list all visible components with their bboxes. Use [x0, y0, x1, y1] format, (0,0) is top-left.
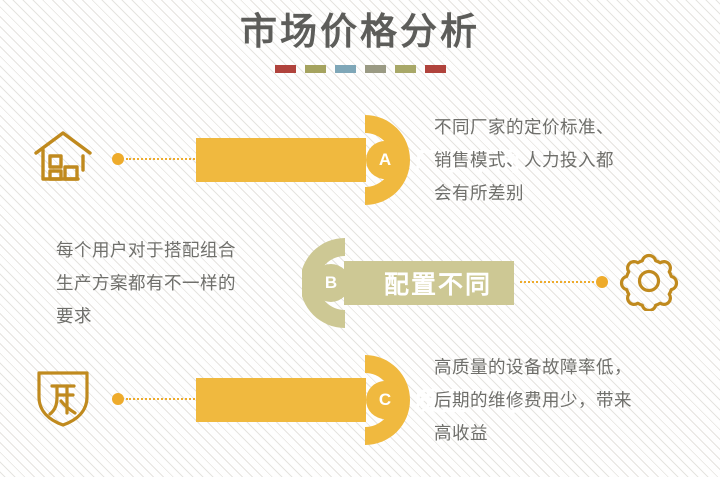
reason-row-b: 每个用户对于搭配组合 生产方案都有不一样的 要求 配置不同 B	[0, 228, 720, 338]
badge-a[interactable]: 厂家不同 A	[196, 105, 412, 215]
description-c-line-1: 高质量的设备故障率低，	[434, 351, 690, 384]
description-c-line-3: 高收益	[434, 417, 690, 450]
badge-c-letter: C	[366, 345, 404, 455]
badge-b-label: 配置不同	[384, 228, 492, 338]
badge-a-letter: A	[366, 105, 404, 215]
connector-dot-b	[596, 276, 608, 288]
connector-dot-c	[112, 393, 124, 405]
divider-dash-2	[305, 65, 326, 73]
page-title: 市场价格分析	[0, 8, 720, 56]
connector-c	[112, 393, 208, 405]
description-a-line-2: 销售模式、人力投入都	[434, 144, 686, 177]
infographic-page: 市场价格分析	[0, 0, 720, 477]
connector-line-a	[126, 158, 206, 160]
badge-b[interactable]: 配置不同 B	[302, 228, 514, 338]
title-divider-dashes	[0, 65, 720, 73]
divider-dash-1	[275, 65, 296, 73]
description-b-line-2: 生产方案都有不一样的	[56, 267, 306, 300]
connector-dot-a	[112, 153, 124, 165]
description-b: 每个用户对于搭配组合 生产方案都有不一样的 要求	[56, 234, 306, 333]
divider-dash-6	[425, 65, 446, 73]
reason-row-a: 厂家不同 A 不同厂家的定价标准、 销售模式、人力投入都 会有所差别	[0, 105, 720, 215]
connector-line-c	[126, 398, 206, 400]
reason-row-c: 质量不同 C 高质量的设备故障率低， 后期的维修费用少，带来 高收益	[0, 345, 720, 455]
description-a-line-1: 不同厂家的定价标准、	[434, 111, 686, 144]
divider-dash-3	[335, 65, 356, 73]
description-c-line-2: 后期的维修费用少，带来	[434, 384, 690, 417]
divider-dash-5	[395, 65, 416, 73]
divider-dash-4	[365, 65, 386, 73]
badge-c[interactable]: 质量不同 C	[196, 345, 412, 455]
connector-b	[518, 276, 608, 288]
gear-icon	[612, 244, 686, 318]
header: 市场价格分析	[0, 8, 720, 73]
description-b-line-1: 每个用户对于搭配组合	[56, 234, 306, 267]
description-a: 不同厂家的定价标准、 销售模式、人力投入都 会有所差别	[434, 111, 686, 210]
description-c: 高质量的设备故障率低， 后期的维修费用少，带来 高收益	[434, 351, 690, 450]
connector-a	[112, 153, 208, 165]
house-icon	[26, 121, 100, 195]
shield-quality-icon	[26, 361, 100, 435]
description-a-line-3: 会有所差别	[434, 177, 686, 210]
description-b-line-3: 要求	[56, 300, 306, 333]
connector-line-b	[520, 281, 594, 283]
badge-b-letter: B	[312, 228, 350, 338]
